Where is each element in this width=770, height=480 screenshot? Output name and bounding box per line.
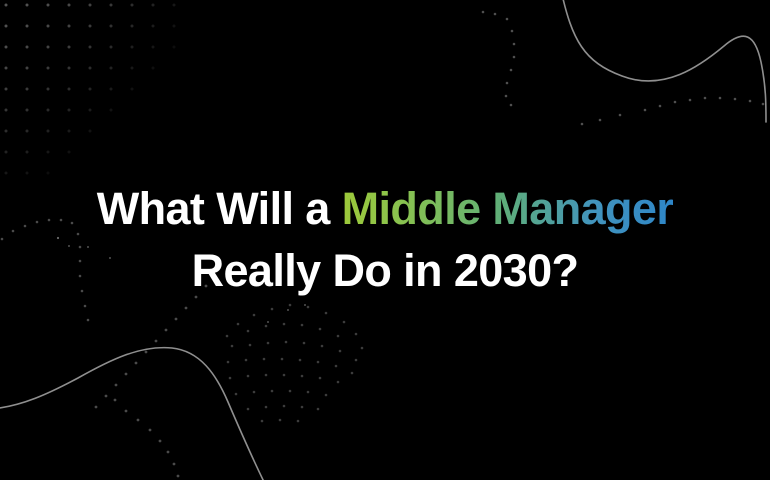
title-line-2: Really Do in 2030? xyxy=(97,240,674,302)
title-line-1-plain: What Will a xyxy=(97,183,342,234)
title-line-1: What Will a Middle Manager xyxy=(97,178,674,240)
title-card-canvas: What Will a Middle Manager Really Do in … xyxy=(0,0,770,480)
headline-container: What Will a Middle Manager Really Do in … xyxy=(0,0,770,480)
page-title: What Will a Middle Manager Really Do in … xyxy=(97,178,674,302)
title-line-1-accent: Middle Manager xyxy=(342,183,674,234)
